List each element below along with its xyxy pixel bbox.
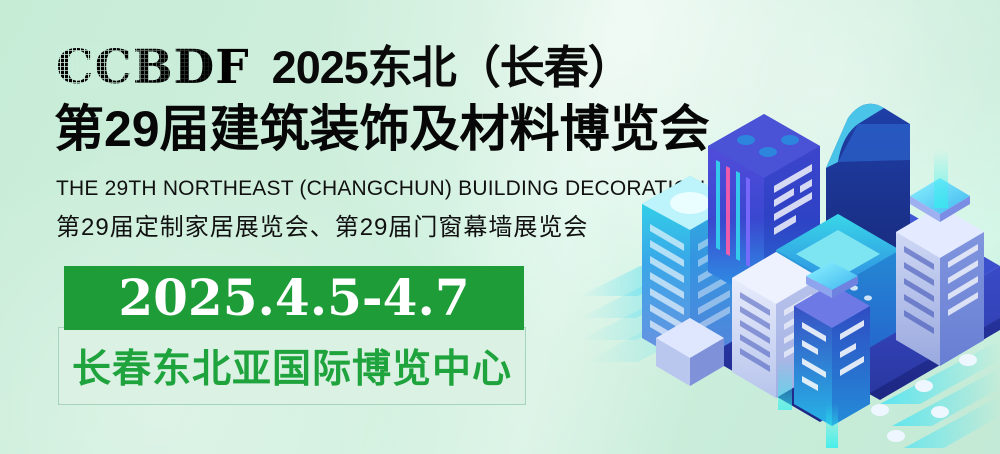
brand-acronym-text: CCBDF — [56, 40, 250, 95]
brand-acronym-logo: CCBDF — [56, 44, 250, 91]
date-box: 2025.4.5-4.7 — [64, 266, 524, 330]
date-label: 2025.4.5-4.7 — [118, 273, 469, 323]
subtitle-chinese: 第29届定制家居展览会、第29届门窗幕墙展览会 — [56, 216, 588, 240]
brand-title-line: CCBDF 2025东北（长春） — [56, 44, 632, 91]
exhibition-banner: CCBDF 2025东北（长春） 第29届建筑装饰及材料博览会 THE 29TH… — [0, 0, 1000, 454]
title-line1-rest: 2025东北（长春） — [272, 45, 632, 90]
building-base-glow — [778, 360, 792, 410]
isometric-city-illustration — [580, 0, 1000, 454]
banner-text-block: CCBDF 2025东北（长春） 第29届建筑装饰及材料博览会 THE 29TH… — [0, 0, 640, 454]
venue-label: 长春东北亚国际博览中心 — [58, 327, 526, 405]
